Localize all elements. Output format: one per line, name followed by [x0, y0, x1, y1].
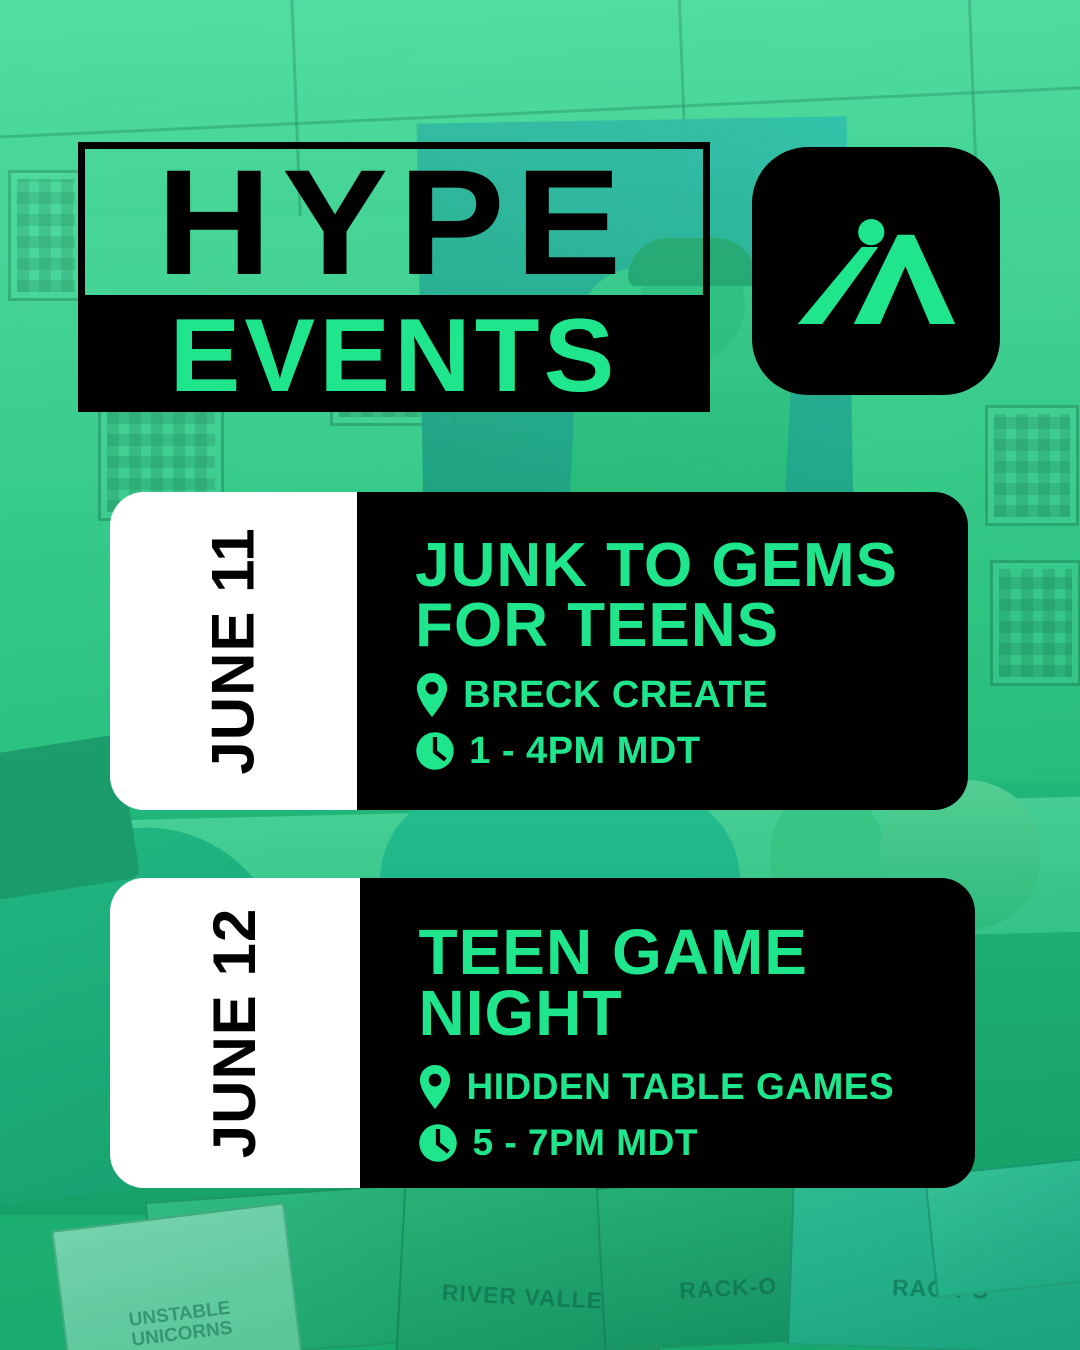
event-card[interactable]: JUNE 11 JUNK TO GEMS FOR TEENS BRECK CRE…	[110, 492, 968, 810]
event-date-panel: JUNE 11	[110, 492, 357, 810]
event-date: JUNE 12	[205, 908, 265, 1158]
event-card[interactable]: JUNE 12 TEEN GAME NIGHT HIDDEN TABLE GAM…	[110, 878, 975, 1188]
event-card-body: JUNK TO GEMS FOR TEENS BRECK CREATE 1 - …	[357, 492, 968, 810]
event-location: HIDDEN TABLE GAMES	[466, 1068, 894, 1105]
event-card-body: TEEN GAME NIGHT HIDDEN TABLE GAMES 5 - 7…	[360, 878, 975, 1188]
event-title: JUNK TO GEMS FOR TEENS	[415, 536, 928, 655]
hype-title-box: HYPE	[78, 142, 710, 302]
event-time-row: 5 - 7PM MDT	[418, 1123, 935, 1163]
event-time: 5 - 7PM MDT	[472, 1124, 697, 1161]
event-location-row: HIDDEN TABLE GAMES	[418, 1065, 935, 1109]
event-time-row: 1 - 4PM MDT	[415, 731, 928, 771]
ia-mountain-logo	[752, 147, 1000, 395]
clock-icon	[418, 1123, 458, 1163]
event-time: 1 - 4PM MDT	[469, 732, 700, 770]
map-pin-icon	[415, 673, 449, 717]
events-title: EVENTS	[170, 311, 619, 403]
events-title-box: EVENTS	[78, 302, 710, 412]
event-date: JUNE 11	[204, 527, 264, 774]
event-location-row: BRECK CREATE	[415, 673, 928, 717]
event-location: BRECK CREATE	[463, 676, 768, 714]
hype-title: HYPE	[156, 156, 631, 288]
event-title: TEEN GAME NIGHT	[418, 922, 935, 1045]
social-post-canvas: UNSTABLE UNICORNS RIVER VALLEY RACK-O RA…	[0, 0, 1080, 1350]
clock-icon	[415, 731, 455, 771]
map-pin-icon	[418, 1065, 452, 1109]
event-date-panel: JUNE 12	[110, 878, 360, 1188]
